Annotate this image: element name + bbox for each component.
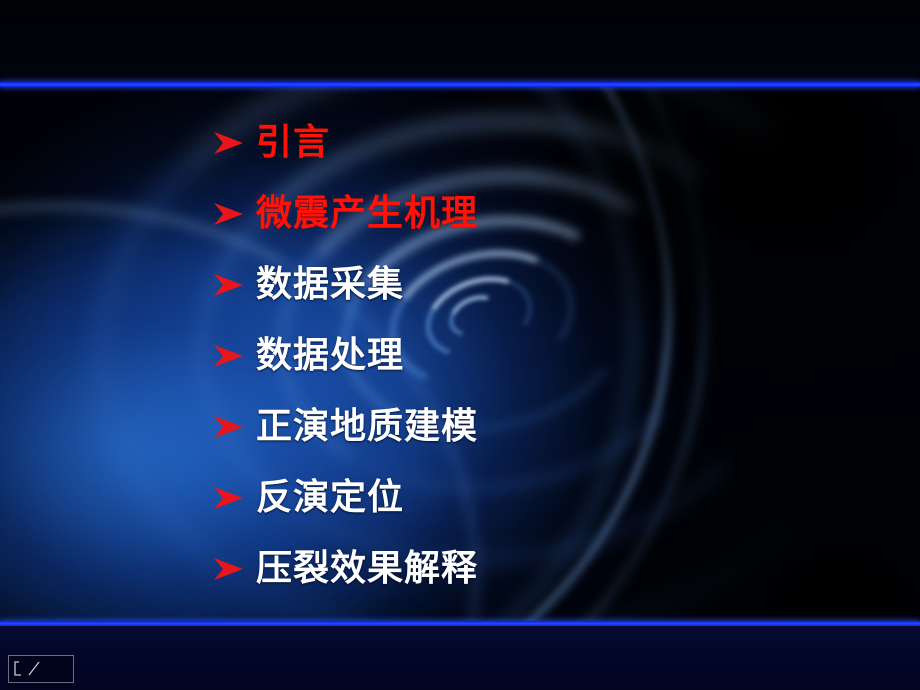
arrow-bullet-icon bbox=[212, 343, 246, 369]
slide-top-band bbox=[0, 0, 920, 82]
agenda-list: 引言 微震产生机理 数据采集 数据处理 bbox=[0, 87, 920, 621]
arrow-bullet-icon bbox=[212, 414, 246, 440]
list-item[interactable]: 数据处理 bbox=[0, 320, 920, 391]
list-item[interactable]: 引言 bbox=[0, 107, 920, 178]
list-item-label: 反演定位 bbox=[256, 479, 404, 517]
list-item-label: 数据处理 bbox=[256, 337, 404, 375]
list-item[interactable]: 正演地质建模 bbox=[0, 391, 920, 462]
list-item[interactable]: 反演定位 bbox=[0, 462, 920, 533]
list-item-label: 微震产生机理 bbox=[256, 195, 478, 233]
arrow-bullet-icon bbox=[212, 201, 246, 227]
slide-bottom-band bbox=[0, 626, 920, 690]
slide-canvas: 引言 微震产生机理 数据采集 数据处理 bbox=[0, 0, 920, 690]
list-item[interactable]: 微震产生机理 bbox=[0, 178, 920, 249]
arrow-bullet-icon bbox=[212, 556, 246, 582]
list-item-label: 压裂效果解释 bbox=[256, 550, 478, 588]
list-item-label: 正演地质建模 bbox=[256, 408, 478, 446]
arrow-bullet-icon bbox=[212, 130, 246, 156]
list-item-label: 数据采集 bbox=[256, 266, 404, 304]
arrow-bullet-icon bbox=[212, 272, 246, 298]
arrow-bullet-icon bbox=[212, 485, 246, 511]
list-item[interactable]: 压裂效果解释 bbox=[0, 533, 920, 604]
list-item[interactable]: 数据采集 bbox=[0, 249, 920, 320]
broken-image-placeholder-icon bbox=[8, 655, 74, 683]
list-item-label: 引言 bbox=[256, 124, 330, 162]
